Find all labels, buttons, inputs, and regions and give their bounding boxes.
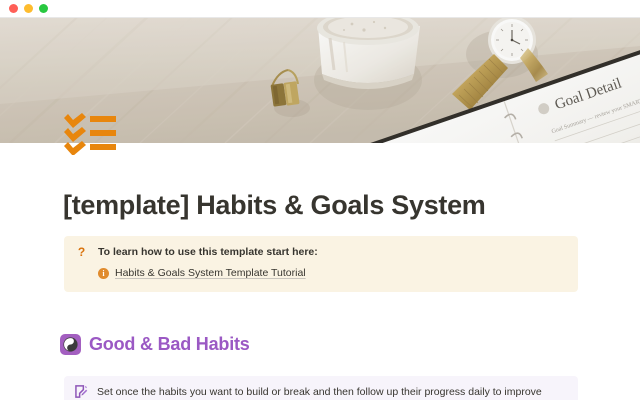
window-titlebar xyxy=(0,0,640,18)
minimize-button[interactable] xyxy=(24,4,33,13)
app-window: Goal Detail Goal Summary — review your S… xyxy=(0,0,640,400)
tutorial-callout-title: To learn how to use this template start … xyxy=(98,245,318,259)
tutorial-link[interactable]: Habits & Goals System Template Tutorial xyxy=(115,266,306,280)
checklist-icon-graphic xyxy=(64,113,116,155)
section-title: Good & Bad Habits xyxy=(89,334,250,355)
yin-yang-icon-graphic xyxy=(63,337,78,352)
question-mark-icon: ? xyxy=(75,245,88,259)
tutorial-callout: ? To learn how to use this template star… xyxy=(64,236,578,292)
zoom-button[interactable] xyxy=(39,4,48,13)
info-circle-icon: i xyxy=(98,268,109,279)
close-button[interactable] xyxy=(9,4,18,13)
tutorial-link-row[interactable]: i Habits & Goals System Template Tutoria… xyxy=(98,266,566,280)
checklist-icon[interactable] xyxy=(64,113,116,155)
habits-description-callout: Set once the habits you want to build or… xyxy=(64,376,578,400)
tutorial-callout-row: ? To learn how to use this template star… xyxy=(75,245,566,259)
memo-pencil-icon xyxy=(75,385,88,398)
memo-pencil-icon-graphic xyxy=(75,385,88,398)
section-heading-good-bad-habits: Good & Bad Habits xyxy=(60,334,250,355)
yin-yang-icon xyxy=(60,334,81,355)
habits-description-text: Set once the habits you want to build or… xyxy=(97,385,542,399)
page-title: [template] Habits & Goals System xyxy=(63,190,486,221)
